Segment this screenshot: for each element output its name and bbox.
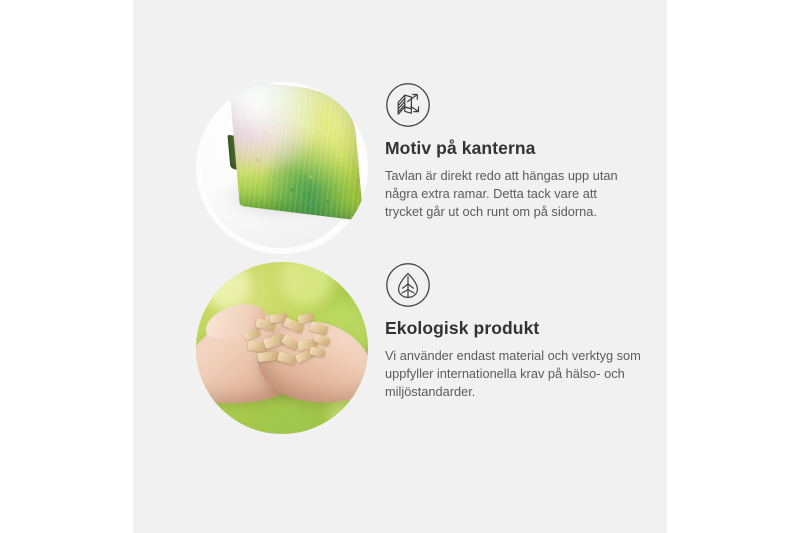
feature-description: Tavlan är direkt redo att hängas upp uta… [385,167,621,221]
canvas-print-block [224,82,365,241]
hands-holding-wood-chips-photo [196,262,368,434]
canvas-paint-speckles [229,82,364,221]
gray-content-panel: Motiv på kanterna Tavlan är direkt redo … [133,0,667,533]
feature-text-column: Motiv på kanterna Tavlan är direkt redo … [385,82,621,221]
feature-title: Ekologisk produkt [385,318,653,339]
canvas-wrap-edges-icon [385,82,431,128]
canvas-print-on-white-plate-photo [196,82,368,254]
feature-title: Motiv på kanterna [385,138,621,159]
canvas-printed-front-face [229,82,364,221]
leaf-icon [385,262,431,308]
feature-description: Vi använder endast material och verktyg … [385,347,653,401]
feature-text-column: Ekologisk produkt Vi använder endast mat… [385,262,653,401]
wood-chips-pile [240,312,336,370]
product-feature-infographic: Motiv på kanterna Tavlan är direkt redo … [0,0,800,533]
